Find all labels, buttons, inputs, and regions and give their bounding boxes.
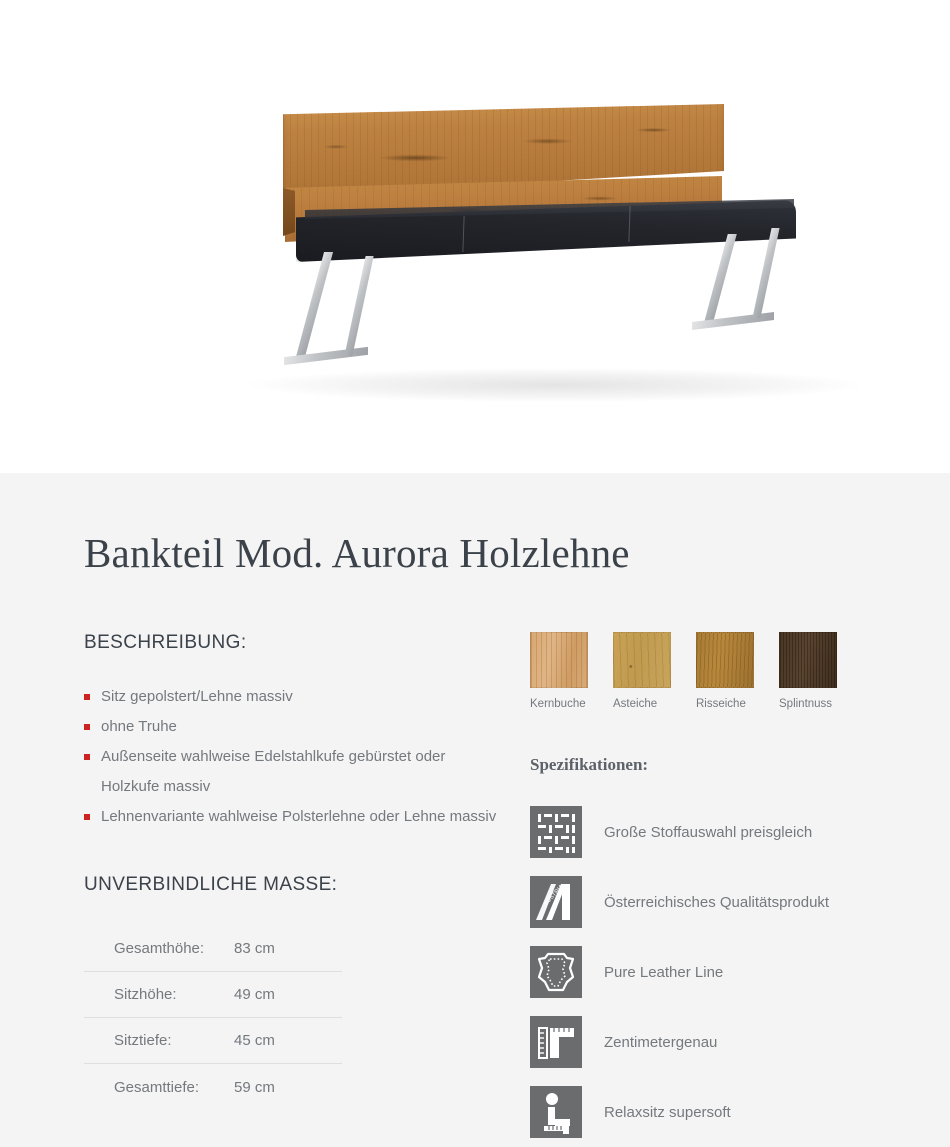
spec-label: Zentimetergenau (604, 1034, 717, 1051)
wood-swatch-kernbuche-icon[interactable] (530, 632, 588, 688)
wood-swatch-label: Risseiche (696, 698, 754, 710)
measure-value: 59 cm (234, 1079, 275, 1096)
product-details-section: Bankteil Mod. Aurora Holzlehne BESCHREIB… (0, 473, 950, 1147)
bench-illustration (0, 0, 950, 473)
wood-swatch-asteiche-icon[interactable] (613, 632, 671, 688)
carpenter-square-icon (530, 1016, 582, 1068)
measure-label: Gesamthöhe: (84, 940, 234, 957)
steel-leg-front-right (704, 234, 737, 322)
wood-swatch-option[interactable]: Kernbuche (530, 632, 588, 710)
austria-quality-icon: AUSTRIA (530, 876, 582, 928)
measure-value: 49 cm (234, 986, 275, 1003)
specifications-list: Große Stoffauswahl preisgleich AUSTRIA (530, 797, 860, 1147)
bench-shadow (250, 368, 860, 402)
specifications-heading: Spezifikationen: (530, 755, 860, 775)
measures-heading: UNVERBINDLICHE MASSE: (84, 874, 504, 896)
description-bullet-list: Sitz gepolstert/Lehne massiv ohne Truhe … (84, 682, 504, 832)
measure-label: Sitztiefe: (84, 1032, 234, 1049)
list-item: ohne Truhe (84, 712, 504, 742)
backrest-plank-edge (283, 188, 295, 236)
measure-value: 83 cm (234, 940, 275, 957)
steel-leg-front-left (284, 347, 368, 365)
spec-label: Relaxsitz supersoft (604, 1104, 731, 1121)
measure-value: 45 cm (234, 1032, 275, 1049)
spec-label: Pure Leather Line (604, 964, 723, 981)
list-item: Außenseite wahlweise Edelstahlkufe gebür… (84, 742, 504, 802)
wood-swatch-option[interactable]: Splintnuss (779, 632, 837, 710)
leather-hide-icon (530, 946, 582, 998)
measure-label: Gesamttiefe: (84, 1079, 234, 1096)
list-item: Pure Leather Line (530, 937, 860, 1007)
description-heading: BESCHREIBUNG: (84, 632, 504, 654)
spec-label: Österreichisches Qualitätsprodukt (604, 894, 829, 911)
wood-swatch-list: Kernbuche Asteiche Risseiche Splintnuss (530, 632, 860, 710)
right-column: Kernbuche Asteiche Risseiche Splintnuss … (530, 632, 860, 1147)
table-row: Gesamttiefe: 59 cm (84, 1064, 342, 1110)
page-title: Bankteil Mod. Aurora Holzlehne (84, 473, 866, 576)
table-row: Gesamthöhe: 83 cm (84, 926, 342, 972)
spec-label: Große Stoffauswahl preisgleich (604, 824, 812, 841)
list-item: Relaxsitz supersoft (530, 1077, 860, 1147)
seated-person-icon (530, 1086, 582, 1138)
steel-leg-front-left (344, 256, 373, 356)
steel-leg-front-right (692, 312, 774, 330)
wood-swatch-option[interactable]: Risseiche (696, 632, 754, 710)
list-item: Große Stoffauswahl preisgleich (530, 797, 860, 867)
left-column: BESCHREIBUNG: Sitz gepolstert/Lehne mass… (84, 632, 504, 1147)
list-item: AUSTRIA Österreichisches Qualitätsproduk… (530, 867, 860, 937)
details-columns: BESCHREIBUNG: Sitz gepolstert/Lehne mass… (84, 632, 866, 1147)
table-row: Sitztiefe: 45 cm (84, 1018, 342, 1064)
fabric-weave-icon (530, 806, 582, 858)
list-item: Zentimetergenau (530, 1007, 860, 1077)
measure-label: Sitzhöhe: (84, 986, 234, 1003)
list-item: Lehnenvariante wahlweise Polsterlehne od… (84, 802, 504, 832)
wood-swatch-splintnuss-icon[interactable] (779, 632, 837, 688)
measures-table: Gesamthöhe: 83 cm Sitzhöhe: 49 cm Sitzti… (84, 926, 342, 1110)
steel-leg-front-left (296, 252, 333, 357)
steel-leg-front-right (752, 228, 779, 318)
wood-swatch-label: Kernbuche (530, 698, 588, 710)
wood-swatch-label: Splintnuss (779, 698, 837, 710)
wood-swatch-label: Asteiche (613, 698, 671, 710)
wood-swatch-option[interactable]: Asteiche (613, 632, 671, 710)
list-item: Sitz gepolstert/Lehne massiv (84, 682, 504, 712)
table-row: Sitzhöhe: 49 cm (84, 972, 342, 1018)
wood-swatch-risseiche-icon[interactable] (696, 632, 754, 688)
product-hero-image (0, 0, 950, 473)
